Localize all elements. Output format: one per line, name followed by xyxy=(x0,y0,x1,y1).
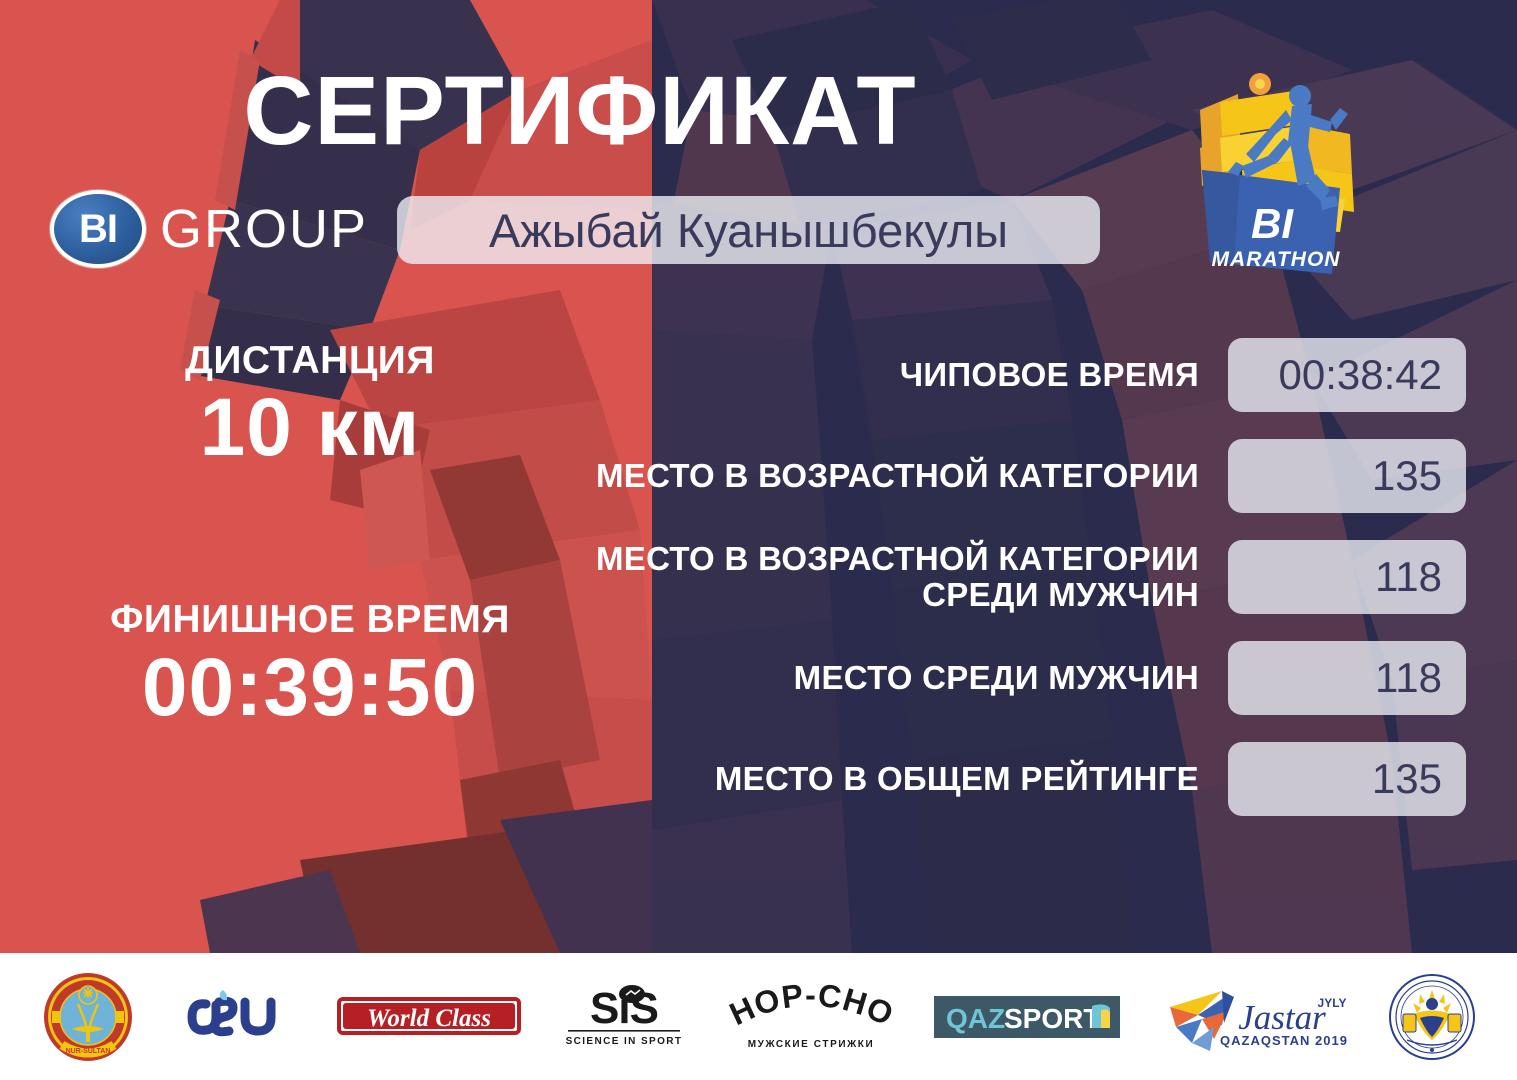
sponsor-ministry-emblem xyxy=(1389,974,1475,1060)
sponsor-chop-chop-sublabel: МУЖСКИЕ СТРИЖКИ xyxy=(748,1039,875,1050)
sponsor-footer: NUR-SULTAN World Class SiS xyxy=(0,953,1517,1080)
stat-age-category-place-label: МЕСТО В ВОЗРАСТНОЙ КАТЕГОРИИ xyxy=(528,458,1228,494)
stat-finish-time-label: ФИНИШНОЕ ВРЕМЯ xyxy=(60,599,560,640)
stat-finish-time: ФИНИШНОЕ ВРЕМЯ 00:39:50 xyxy=(60,599,560,730)
sponsor-world-class: World Class xyxy=(335,987,523,1047)
stat-finish-time-value: 00:39:50 xyxy=(60,645,560,731)
stat-chip-time-label: ЧИПОВОЕ ВРЕМЯ xyxy=(528,357,1228,393)
stat-distance-value: 10 км xyxy=(60,385,560,471)
stat-age-category-men-place-pill: 118 xyxy=(1228,540,1466,614)
athlete-name: Ажыбай Куанышбекулы xyxy=(489,203,1008,258)
spacer xyxy=(60,471,560,599)
stat-age-category-men-place-label: МЕСТО В ВОЗРАСТНОЙ КАТЕГОРИИ СРЕДИ МУЖЧИ… xyxy=(528,541,1228,612)
sponsor-asu xyxy=(171,986,299,1048)
certificate: СЕРТИФИКАТ BI GROUP Ажыбай Куанышбекулы xyxy=(0,0,1517,1080)
right-stats-column: ЧИПОВОЕ ВРЕМЯ 00:38:42 МЕСТО В ВОЗРАСТНО… xyxy=(528,338,1466,843)
stat-chip-time-pill: 00:38:42 xyxy=(1228,338,1466,412)
stat-row-men-place: МЕСТО СРЕДИ МУЖЧИН 118 xyxy=(528,641,1466,715)
stat-overall-place-label: МЕСТО В ОБЩЕМ РЕЙТИНГЕ xyxy=(528,761,1228,797)
athlete-name-pill: Ажыбай Куанышбекулы xyxy=(397,196,1100,264)
stat-age-category-men-place-value: 118 xyxy=(1375,553,1442,601)
bi-oval-mark: BI xyxy=(50,190,146,268)
stat-row-overall-place: МЕСТО В ОБЩЕМ РЕЙТИНГЕ 135 xyxy=(528,742,1466,816)
bi-marathon-badge: BI MARATHON xyxy=(1180,62,1370,297)
sponsor-jastar-sublabel: QAZAQSTAN 2019 xyxy=(1220,1033,1348,1048)
sponsor-sis: SiS SCIENCE IN SPORT xyxy=(560,983,688,1051)
sponsor-sis-sublabel: SCIENCE IN SPORT xyxy=(566,1036,683,1047)
page-title: СЕРТИФИКАТ xyxy=(0,62,1160,159)
stat-men-place-pill: 118 xyxy=(1228,641,1466,715)
sponsor-jastar-sup: JYLY xyxy=(1318,996,1347,1010)
stat-row-age-category-men-place: МЕСТО В ВОЗРАСТНОЙ КАТЕГОРИИ СРЕДИ МУЖЧИ… xyxy=(528,540,1466,614)
sponsor-chop-chop-label: CHOP-CHOP xyxy=(725,981,897,1033)
sponsor-qazsport: QAZ SPORT xyxy=(934,992,1120,1042)
sponsor-qazsport-label-part1: QAZ xyxy=(946,1003,1005,1034)
sponsor-jastar-jyly: Jastar JYLY QAZAQSTAN 2019 xyxy=(1156,977,1352,1057)
stat-distance: ДИСТАНЦИЯ 10 км xyxy=(60,340,560,471)
left-stats-column: ДИСТАНЦИЯ 10 км ФИНИШНОЕ ВРЕМЯ 00:39:50 xyxy=(60,340,560,731)
bi-mark-text: BI xyxy=(79,207,117,252)
stat-row-chip-time: ЧИПОВОЕ ВРЕМЯ 00:38:42 xyxy=(528,338,1466,412)
badge-bi-text: BI xyxy=(1251,200,1294,247)
stat-chip-time-value: 00:38:42 xyxy=(1279,351,1443,399)
sponsor-jastar-label: Jastar xyxy=(1238,998,1326,1037)
sponsor-nur-sultan-label: NUR-SULTAN xyxy=(66,1048,111,1055)
stat-row-age-category-place: МЕСТО В ВОЗРАСТНОЙ КАТЕГОРИИ 135 xyxy=(528,439,1466,513)
sponsor-qazsport-label-part2: SPORT xyxy=(1004,1003,1100,1034)
sponsor-world-class-label: World Class xyxy=(367,1005,491,1032)
stat-distance-label: ДИСТАНЦИЯ xyxy=(60,340,560,381)
sponsor-nur-sultan: NUR-SULTAN xyxy=(42,971,134,1063)
stat-age-category-place-value: 135 xyxy=(1372,452,1442,500)
stat-age-category-place-pill: 135 xyxy=(1228,439,1466,513)
stat-men-place-label: МЕСТО СРЕДИ МУЖЧИН xyxy=(528,660,1228,696)
bi-group-logo: BI GROUP xyxy=(50,190,368,268)
stat-men-place-value: 118 xyxy=(1375,654,1442,702)
sponsor-chop-chop: CHOP-CHOP МУЖСКИЕ СТРИЖКИ xyxy=(725,981,897,1053)
badge-marathon-text: MARATHON xyxy=(1212,248,1341,271)
stat-overall-place-value: 135 xyxy=(1372,755,1442,803)
bi-group-wordmark: GROUP xyxy=(160,198,368,260)
stat-overall-place-pill: 135 xyxy=(1228,742,1466,816)
